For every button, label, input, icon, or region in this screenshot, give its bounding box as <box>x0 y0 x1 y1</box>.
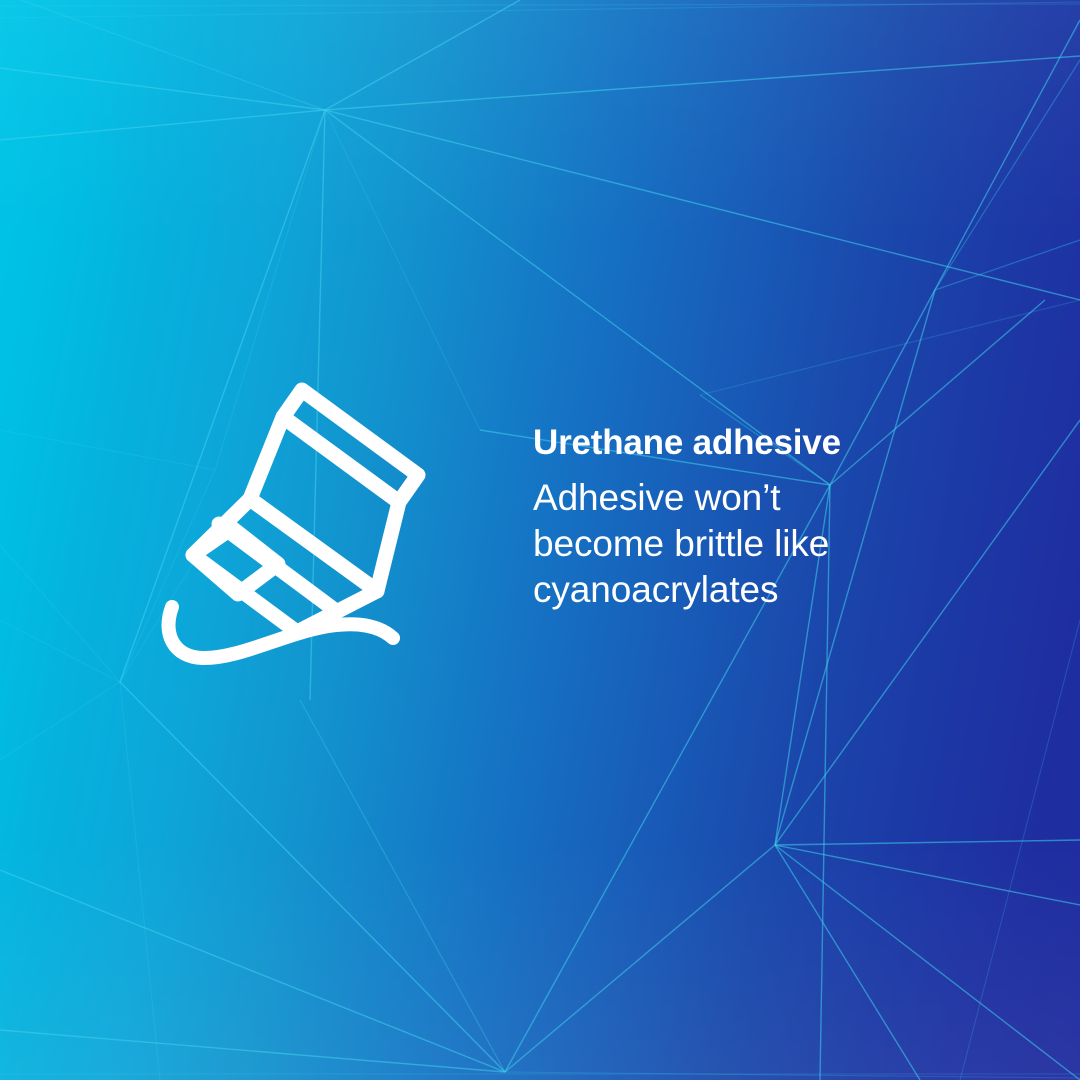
poly-line <box>0 68 325 110</box>
poly-line <box>700 300 1080 395</box>
feature-description: Adhesive won’t become brittle like cyano… <box>533 465 1003 613</box>
poly-line <box>0 1030 505 1072</box>
feature-description-line: Adhesive won’t <box>533 475 1003 521</box>
poly-line <box>120 682 505 1072</box>
poly-line <box>775 840 1080 845</box>
poly-line <box>0 2 1080 18</box>
poly-line <box>120 682 160 1080</box>
poly-line <box>935 60 1080 290</box>
glue-tube-icon <box>150 372 440 672</box>
tube-crimp-shape <box>283 390 418 502</box>
poly-line <box>325 0 520 110</box>
feature-description-line: cyanoacrylates <box>533 567 1003 613</box>
feature-title: Urethane adhesive <box>533 421 1003 465</box>
poly-line <box>775 845 1080 905</box>
tube-nozzle-shape <box>193 528 278 594</box>
poly-line <box>0 870 505 1072</box>
poly-line <box>830 20 1080 485</box>
poly-line <box>0 110 325 140</box>
glue-tube-icon-wrapper <box>150 372 440 672</box>
poly-line <box>935 240 1080 290</box>
poly-line <box>775 845 920 1080</box>
poly-line <box>0 4 1080 6</box>
poly-line <box>0 545 120 682</box>
poly-line <box>960 620 1080 1080</box>
poly-line <box>300 700 505 1072</box>
poly-line <box>0 620 120 682</box>
poly-line <box>0 682 120 760</box>
poly-line <box>325 110 1080 300</box>
feature-description-line: become brittle like <box>533 521 1003 567</box>
poly-line <box>325 56 1080 110</box>
poly-line <box>775 845 1080 1080</box>
poly-line <box>0 0 325 110</box>
poly-line <box>505 845 775 1072</box>
poly-line <box>505 1072 1080 1078</box>
feature-text-block: Urethane adhesive Adhesive won’t become … <box>533 421 1003 613</box>
feature-card: Urethane adhesive Adhesive won’t become … <box>0 0 1080 1080</box>
